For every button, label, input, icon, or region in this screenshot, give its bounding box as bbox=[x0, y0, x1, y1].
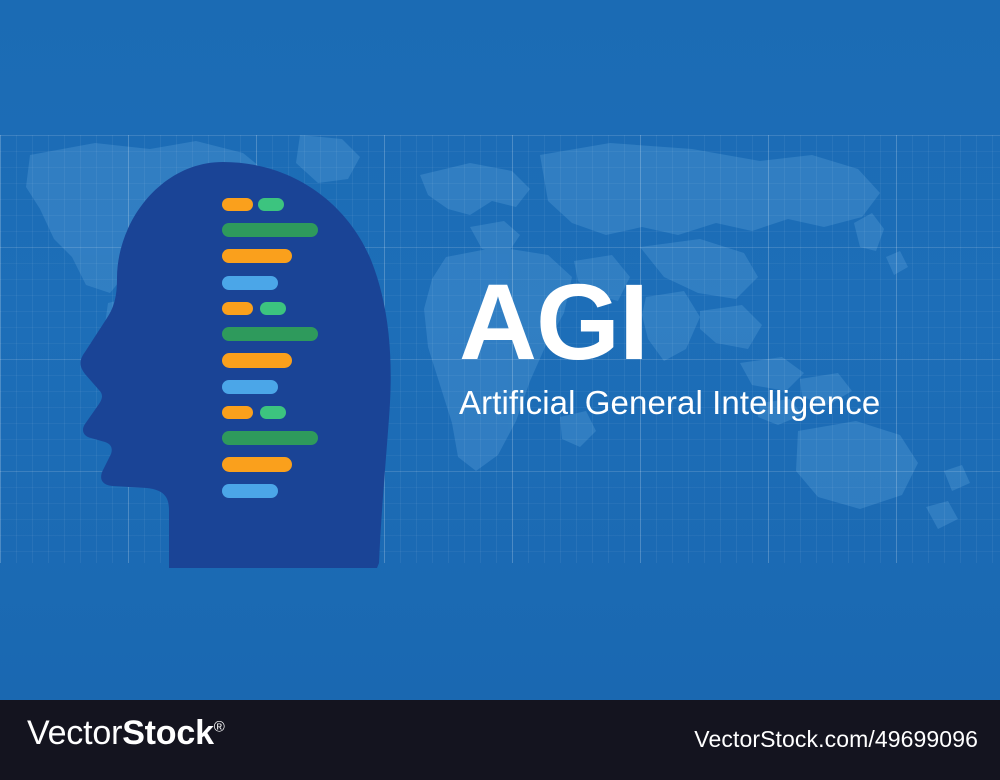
vector-illustration: AGI Artificial General Intelligence bbox=[0, 0, 1000, 700]
logo-text-stock: Stock bbox=[122, 714, 214, 752]
page-title: AGI bbox=[459, 272, 979, 371]
data-bar-1a bbox=[222, 198, 253, 211]
data-bar-12a bbox=[222, 484, 278, 498]
data-bar-9b bbox=[260, 406, 286, 419]
data-bar-2a bbox=[222, 223, 318, 237]
brain-data-bars bbox=[55, 160, 395, 570]
watermark-url: VectorStock.com/49699096 bbox=[694, 728, 978, 751]
data-bar-11a bbox=[222, 457, 292, 472]
headline-block: AGI Artificial General Intelligence bbox=[459, 272, 979, 422]
logo-text-vector: Vector bbox=[27, 714, 122, 752]
data-bar-6a bbox=[222, 327, 318, 341]
data-bar-8a bbox=[222, 380, 278, 394]
data-bar-7a bbox=[222, 353, 292, 368]
data-bar-3a bbox=[222, 249, 292, 263]
data-bar-5b bbox=[260, 302, 286, 315]
vectorstock-logo: VectorStock® bbox=[27, 716, 225, 750]
data-bar-9a bbox=[222, 406, 253, 419]
head-silhouette-group bbox=[55, 160, 395, 570]
data-bar-5a bbox=[222, 302, 253, 315]
data-bar-4a bbox=[222, 276, 278, 290]
data-bar-1b bbox=[258, 198, 284, 211]
screenshot-canvas: AGI Artificial General Intelligence Vect… bbox=[0, 0, 1000, 780]
registered-trademark-icon: ® bbox=[214, 719, 225, 736]
page-subtitle: Artificial General Intelligence bbox=[459, 385, 979, 421]
data-bar-10a bbox=[222, 431, 318, 445]
